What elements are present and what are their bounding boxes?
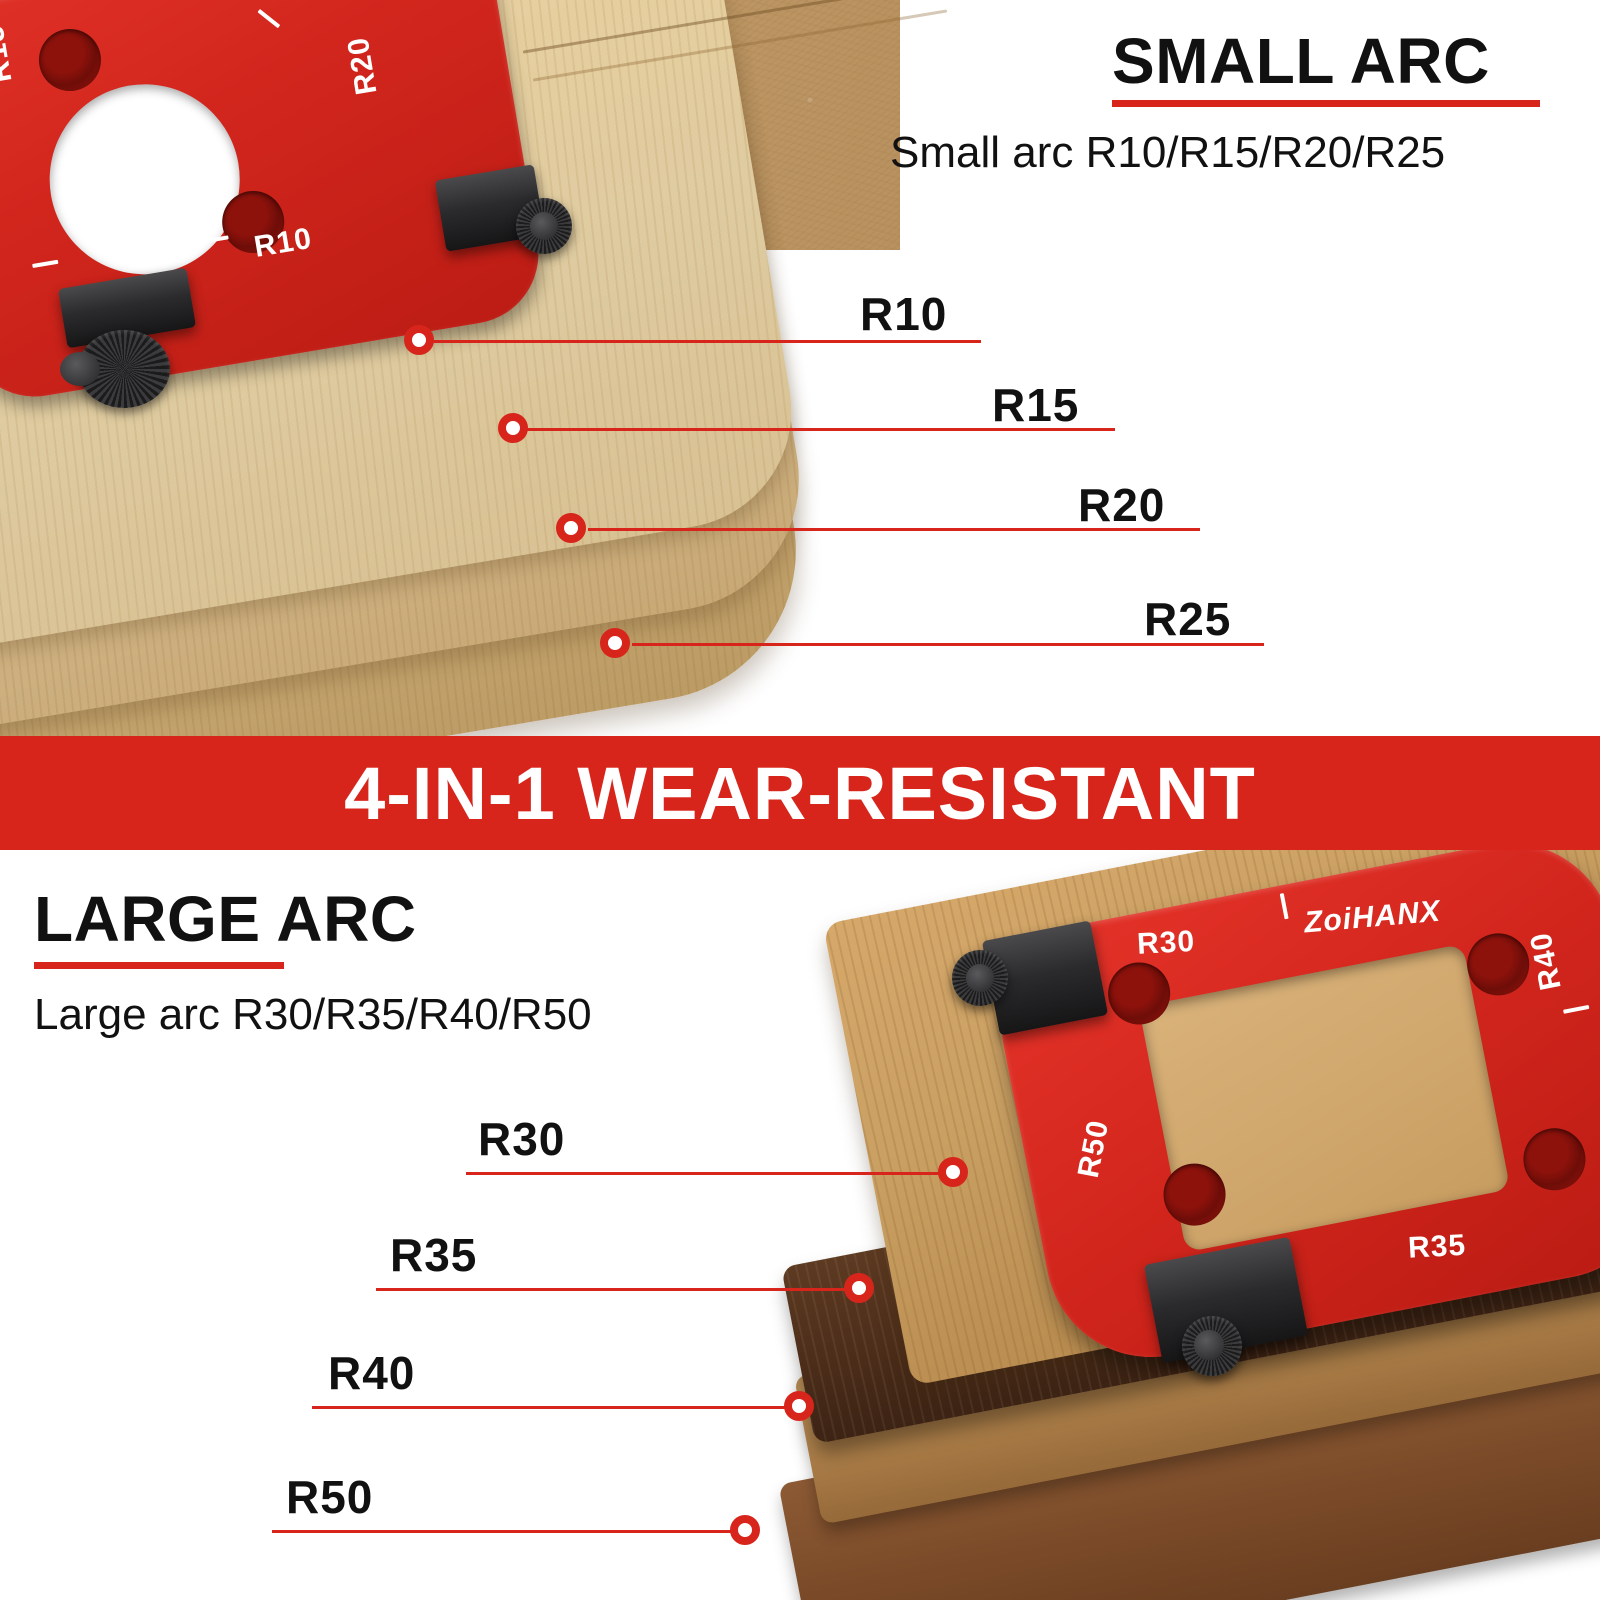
product-infographic: R15 R20 R10 SMALL ARC Small arc R10/R15/… [0,0,1600,1600]
jig-clamp-knob-cap-right [530,212,558,240]
callout-dot-r10 [404,325,434,355]
callout-leader-r15 [520,428,1115,431]
callout-leader-r10 [426,340,981,343]
large-jig-clamp-knob-cap-bottom [1194,1330,1224,1360]
callout-label-r35: R35 [390,1228,477,1282]
jig-marking-r30: R30 [1136,925,1196,962]
feature-banner: 4-IN-1 WEAR-RESISTANT [0,736,1600,850]
large-arc-panel: R30 R40 R50 R35 ZoiHANX LARGE ARC Large … [0,850,1600,1600]
callout-label-r30: R30 [478,1112,565,1166]
callout-leader-r20 [588,528,1200,531]
callout-label-r50: R50 [286,1470,373,1524]
jig-clamp-knob-cap-left [60,352,100,386]
callout-label-r20: R20 [1078,478,1165,532]
callout-label-r10: R10 [860,287,947,341]
callout-leader-r25 [632,643,1264,646]
callout-dot-r25 [600,628,630,658]
large-arc-subtitle: Large arc R30/R35/R40/R50 [34,990,592,1040]
callout-dot-r15 [498,413,528,443]
small-arc-title: SMALL ARC [1112,24,1490,98]
callout-leader-r30 [466,1172,944,1175]
jig-marking-r35: R35 [1407,1229,1467,1266]
large-jig-clamp-knob-cap-top [966,964,994,992]
callout-leader-r50 [272,1530,736,1533]
small-arc-panel: R15 R20 R10 SMALL ARC Small arc R10/R15/… [0,0,1600,736]
callout-dot-r30 [938,1157,968,1187]
callout-dot-r20 [556,513,586,543]
callout-label-r15: R15 [992,378,1079,432]
small-arc-subtitle: Small arc R10/R15/R20/R25 [890,128,1445,178]
callout-leader-r40 [312,1406,790,1409]
small-arc-title-underline [1112,100,1540,107]
large-arc-title-underline [34,962,284,969]
large-arc-title: LARGE ARC [34,882,417,956]
callout-label-r25: R25 [1144,592,1231,646]
callout-dot-r50 [730,1515,760,1545]
feature-banner-text: 4-IN-1 WEAR-RESISTANT [344,751,1256,836]
callout-label-r40: R40 [328,1346,415,1400]
callout-leader-r35 [376,1288,850,1291]
callout-dot-r40 [784,1391,814,1421]
callout-dot-r35 [844,1273,874,1303]
